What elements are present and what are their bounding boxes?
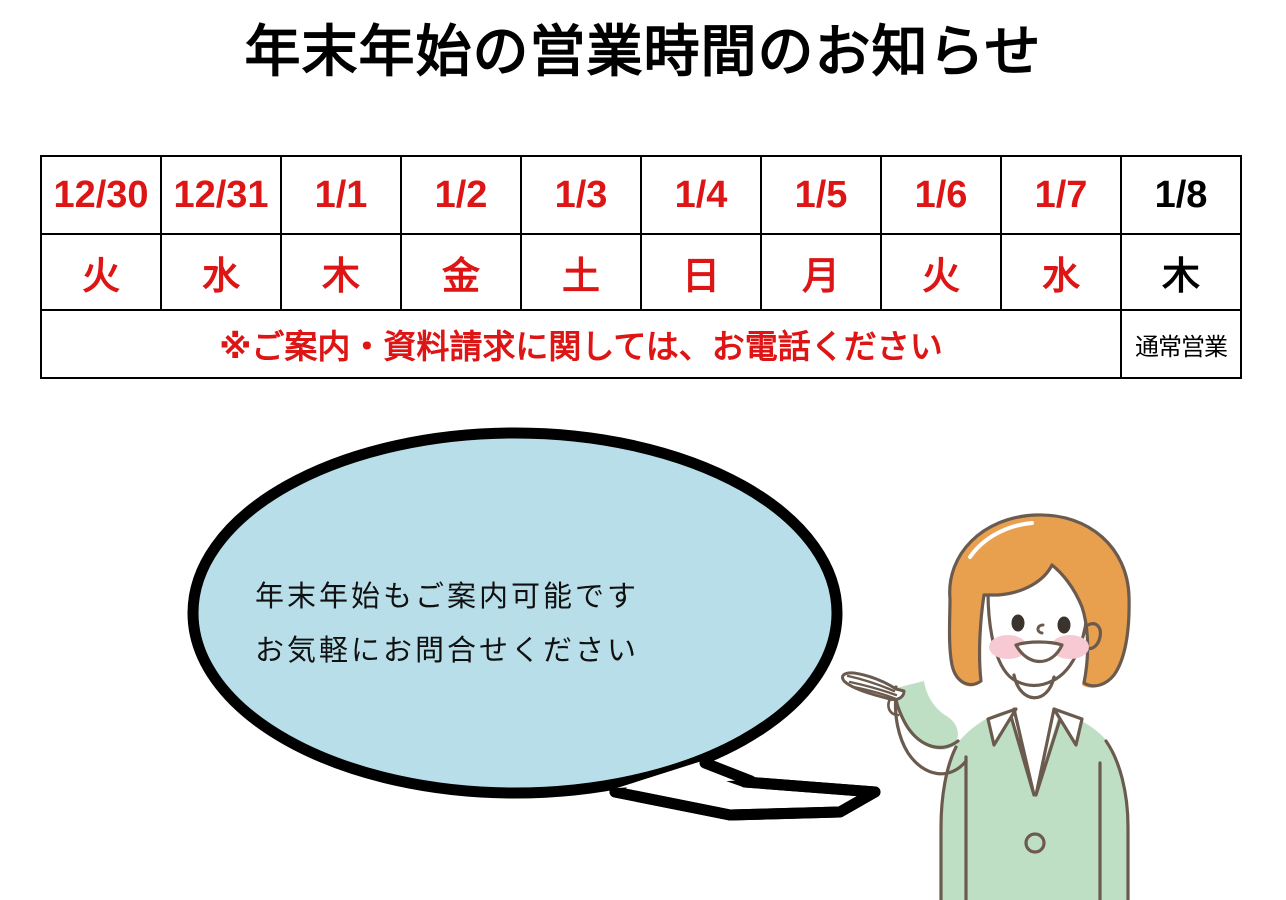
speech-bubble-text: 年末年始もご案内可能です お気軽にお問合せください <box>255 570 815 677</box>
date-cell-5: 1/4 <box>641 156 761 234</box>
woman-pointing-illustration <box>838 495 1286 900</box>
date-cell-0: 12/30 <box>41 156 161 234</box>
table-row-weekdays: 火 水 木 金 土 日 月 火 水 木 <box>41 234 1241 310</box>
weekday-cell-5: 日 <box>641 234 761 310</box>
date-cell-7: 1/6 <box>881 156 1001 234</box>
bubble-line-2: お気軽にお問合せください <box>255 624 815 678</box>
business-hours-table: 12/30 12/31 1/1 1/2 1/3 1/4 1/5 1/6 1/7 … <box>40 155 1242 379</box>
weekday-cell-2: 木 <box>281 234 401 310</box>
weekday-cell-3: 金 <box>401 234 521 310</box>
page-title: 年末年始の営業時間のお知らせ <box>0 18 1286 85</box>
table-row-note: ※ご案内・資料請求に関しては、お電話ください 通常営業 <box>41 310 1241 378</box>
weekday-cell-9: 木 <box>1121 234 1241 310</box>
speech-bubble: 年末年始もご案内可能です お気軽にお問合せください <box>185 420 885 830</box>
date-cell-9: 1/8 <box>1121 156 1241 234</box>
date-cell-1: 12/31 <box>161 156 281 234</box>
weekday-cell-1: 水 <box>161 234 281 310</box>
weekday-cell-4: 土 <box>521 234 641 310</box>
woman-illustration-graphic <box>838 495 1286 900</box>
eye-right <box>1058 617 1071 634</box>
weekday-cell-8: 水 <box>1001 234 1121 310</box>
date-cell-8: 1/7 <box>1001 156 1121 234</box>
date-cell-2: 1/1 <box>281 156 401 234</box>
bubble-line-1: 年末年始もご案内可能です <box>255 570 815 624</box>
eye-left <box>1012 615 1025 632</box>
note-normal-business-cell: 通常営業 <box>1121 310 1241 378</box>
table-row-dates: 12/30 12/31 1/1 1/2 1/3 1/4 1/5 1/6 1/7 … <box>41 156 1241 234</box>
weekday-cell-6: 月 <box>761 234 881 310</box>
date-cell-3: 1/2 <box>401 156 521 234</box>
weekday-cell-0: 火 <box>41 234 161 310</box>
date-cell-6: 1/5 <box>761 156 881 234</box>
weekday-cell-7: 火 <box>881 234 1001 310</box>
note-cell: ※ご案内・資料請求に関しては、お電話ください <box>41 310 1121 378</box>
date-cell-4: 1/3 <box>521 156 641 234</box>
